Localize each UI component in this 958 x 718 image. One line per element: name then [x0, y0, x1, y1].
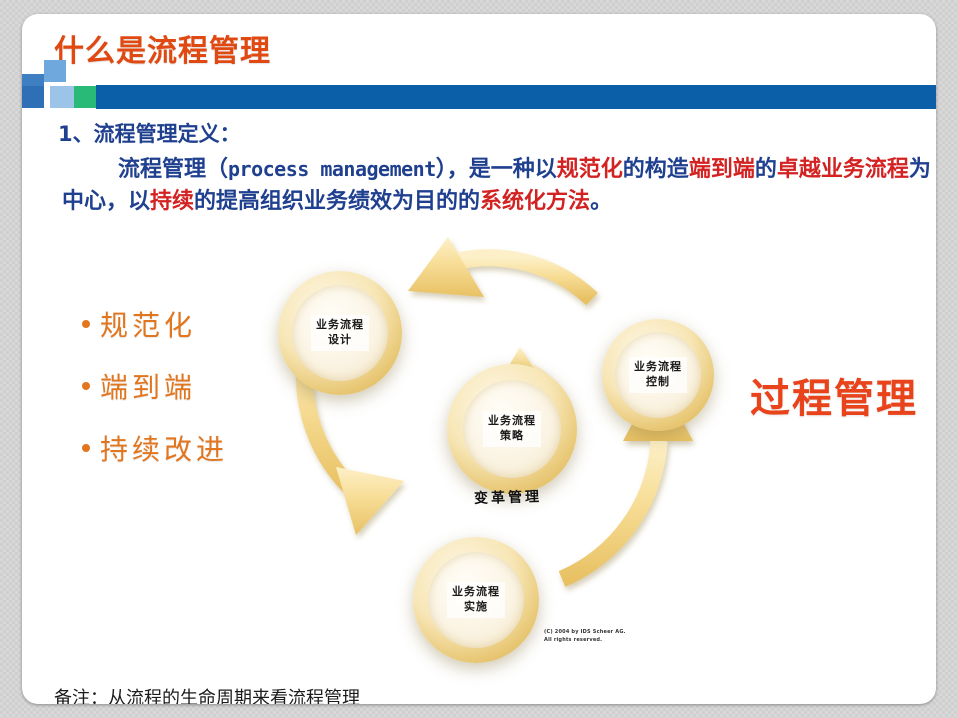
slide-card: 什么是流程管理 1、流程管理定义： 流程管理（process managemen… [22, 14, 936, 704]
paragraph-part-2: ），是一种以 [436, 157, 557, 182]
decorative-square-green [74, 86, 96, 108]
bullet-label: 端到端 [100, 366, 196, 406]
page-title: 什么是流程管理 [54, 26, 271, 70]
definition-heading: 1、流程管理定义： [58, 118, 241, 148]
paragraph-part-4: 的 [755, 157, 777, 182]
footer-note: 备注：从流程的生命周期来看流程管理 [54, 684, 360, 704]
bullet-dot-icon [82, 382, 90, 390]
decorative-square-pale-blue [50, 86, 74, 108]
highlight-systematic-method: 系统化方法 [480, 189, 590, 214]
bullet-label: 持续改进 [100, 428, 228, 468]
definition-paragraph: 流程管理（process management），是一种以规范化的构造端到端的卓… [62, 154, 936, 218]
paragraph-part-1: 流程管理（ [118, 157, 228, 182]
node-label-implementation: 业务流程 实施 [447, 582, 505, 618]
node-design[interactable]: 业务流程 设计 [292, 285, 388, 381]
decorative-square-dark-blue [22, 86, 44, 108]
node-label-control: 业务流程 控制 [629, 357, 687, 393]
node-label-design: 业务流程 设计 [311, 315, 369, 351]
paragraph-part-6: 的提高组织业务绩效为目的的 [194, 189, 480, 214]
bullet-dot-icon [82, 444, 90, 452]
highlight-end-to-end: 端到端 [689, 157, 755, 182]
node-implementation[interactable]: 业务流程 实施 [428, 552, 524, 648]
bullet-label: 规范化 [100, 304, 196, 344]
center-inner-disc: 业务流程 策略 [463, 380, 561, 478]
paragraph-part-7: 。 [590, 189, 612, 214]
diagram-copyright-note: (C) 2004 by IDS Scheer AG. All rights re… [544, 629, 626, 644]
slide-root: 什么是流程管理 1、流程管理定义： 流程管理（process managemen… [0, 0, 958, 718]
english-term: process management [228, 157, 436, 181]
highlight-continuous: 持续 [150, 189, 194, 214]
bullet-dot-icon [82, 320, 90, 328]
node-control[interactable]: 业务流程 控制 [615, 332, 701, 418]
process-cycle-diagram: 业务流程 策略 变革管理 业务流程 设计 业务流程 控制 业务流程 实施 (C)… [252, 229, 752, 689]
decorative-square-light-blue [44, 60, 66, 82]
highlight-standardization: 规范化 [557, 157, 623, 182]
header-divider-bar [96, 85, 936, 109]
process-management-label: 过程管理 [750, 366, 918, 424]
node-label-strategy: 业务流程 策略 [483, 411, 541, 447]
change-management-label: 变革管理 [448, 485, 568, 508]
paragraph-part-3: 的构造 [623, 157, 689, 182]
highlight-excellent-process: 卓越业务流程 [777, 157, 909, 182]
